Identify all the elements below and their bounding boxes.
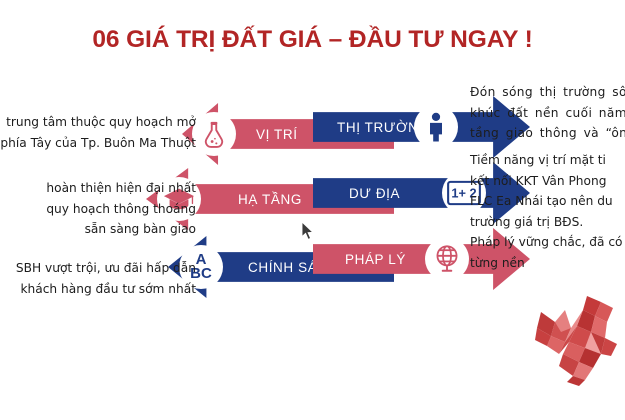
right-notes-column: Đón sóng thị trường sôi đ khúc đất nền c… bbox=[470, 82, 625, 302]
person-icon bbox=[414, 105, 458, 149]
mouse-pointer bbox=[302, 222, 315, 241]
arrow-label-phap-ly: PHÁP LÝ bbox=[345, 252, 406, 267]
abstract-red-figure bbox=[525, 292, 625, 387]
page-title: 06 GIÁ TRỊ ĐẤT GIÁ – ĐẦU TƯ NGAY ! bbox=[0, 26, 625, 54]
note-thi-truong: Đón sóng thị trường sôi đ khúc đất nền c… bbox=[470, 82, 625, 144]
note-phap-ly: Pháp lý vững chắc, đã có từng nền bbox=[470, 232, 622, 273]
arrow-label-du-dia: DƯ ĐỊA bbox=[349, 186, 400, 201]
note-vi-tri: trung tâm thuộc quy hoạch mở phía Tây củ… bbox=[0, 112, 196, 153]
left-notes-column: trung tâm thuộc quy hoạch mở phía Tây củ… bbox=[0, 112, 196, 312]
note-ha-tang: hoàn thiện hiện đại nhất quy hoạch thông… bbox=[46, 178, 196, 240]
slide-canvas: 06 GIÁ TRỊ ĐẤT GIÁ – ĐẦU TƯ NGAY ! VỊ TR… bbox=[0, 0, 625, 420]
globe-icon bbox=[425, 237, 469, 281]
note-chinh-sach: SBH vượt trội, ưu đãi hấp dẫn khách hàng… bbox=[16, 258, 196, 299]
flask-icon bbox=[192, 112, 236, 156]
arrow-label-vi-tri: VỊ TRÍ bbox=[256, 127, 298, 142]
note-du-dia: Tiềm năng vị trí mặt ti kết nối KKT Vân … bbox=[470, 150, 613, 232]
arrow-label-ha-tang: HẠ TẦNG bbox=[238, 192, 302, 207]
